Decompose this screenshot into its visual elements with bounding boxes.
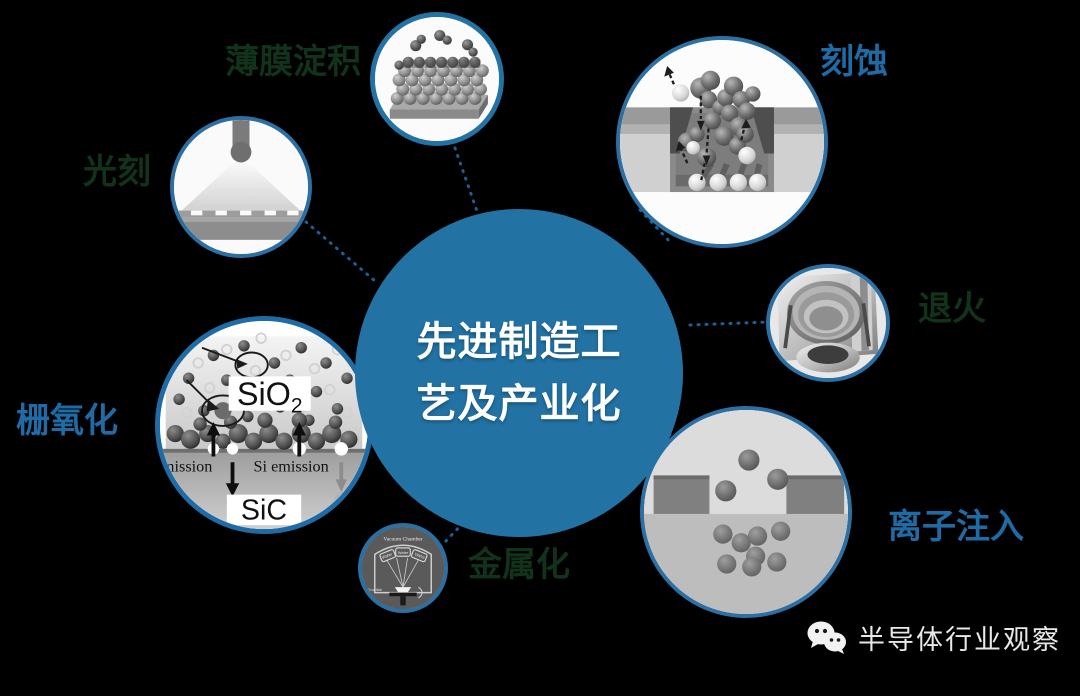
anneal-chamber-icon [770,268,886,378]
lattice-deposition-icon [375,17,499,141]
label-etching: 刻蚀 [820,45,888,79]
crucible-label: Crucible [367,587,382,592]
sio2-subscript: 2 [291,395,303,418]
center-hub[interactable]: 先进制造工 艺及产业化 [355,209,683,537]
watermark: 半导体行业观察 [806,618,1061,657]
emission-label-left: mission [162,458,212,476]
emission-label-right: Si emission [254,458,329,476]
node-gate-oxidation[interactable]: SiO2 mission Si emission SiC [155,316,373,534]
node-photolithography[interactable] [170,116,312,258]
node-thin-film-deposition[interactable] [370,12,504,146]
watermark-text: 半导体行业观察 [858,618,1061,657]
connector-thin-film [455,148,478,214]
sio2-label: SiO [237,376,291,412]
hub-title-line2: 艺及产业化 [417,373,622,435]
sio2-sic-diagram-icon: SiO2 mission Si emission SiC [160,321,368,529]
label-gate-oxidation: 栅氧化 [16,404,118,438]
label-metallization: 金属化 [468,548,570,582]
diagram-canvas: Vacuum Chamber Wafer Wafer Wafer Crucibl… [0,0,1080,696]
exposure-cone-icon [174,120,308,254]
wechat-icon [806,620,848,656]
label-thin-film-deposition: 薄膜淀积 [225,45,361,79]
label-ion-implantation: 离子注入 [888,510,1024,544]
node-etching[interactable] [616,36,828,248]
hub-title-line1: 先进制造工 [417,311,622,373]
node-ion-implantation[interactable] [640,406,852,618]
sic-label: SiC [241,494,287,526]
node-metallization[interactable]: Vacuum Chamber Wafer Wafer Wafer Crucibl… [358,523,448,613]
ion-beam-icon [644,410,848,614]
plasma-trench-icon [620,40,824,244]
connector-annealing [690,322,768,325]
connector-photolithography [306,222,375,281]
label-annealing: 退火 [918,292,986,326]
wafer-center-label: Wafer [398,550,409,555]
label-photolithography: 光刻 [83,155,151,189]
node-annealing[interactable] [766,264,890,382]
chamber-title: Vacuum Chamber [383,537,422,543]
evaporation-chamber-icon: Vacuum Chamber Wafer Wafer Wafer Crucibl… [362,527,444,609]
